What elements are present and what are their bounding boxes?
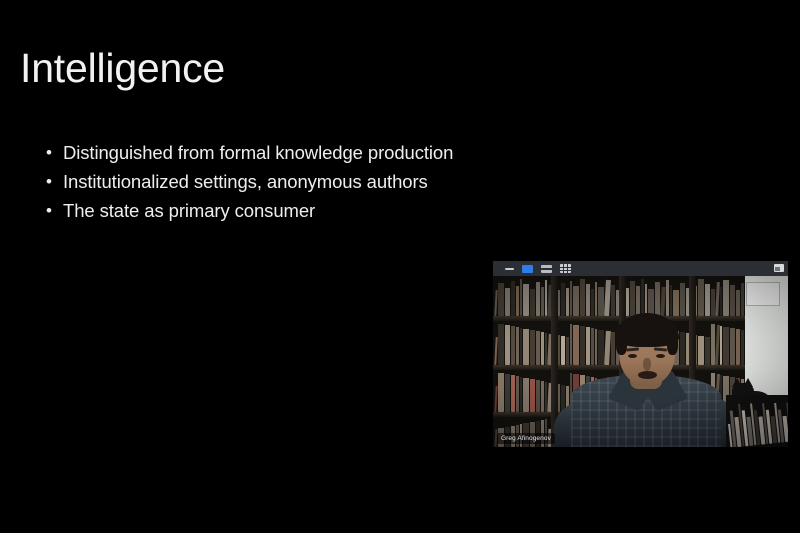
list-item-label: Distinguished from formal knowledge prod… (63, 142, 453, 163)
bullet-marker-icon: • (46, 196, 52, 225)
list-item: • Distinguished from formal knowledge pr… (44, 138, 453, 167)
foreground-shelf (726, 395, 788, 447)
gallery-view-icon[interactable] (560, 264, 571, 273)
bullet-list: • Distinguished from formal knowledge pr… (44, 138, 453, 225)
bullet-marker-icon: • (46, 167, 52, 196)
list-item: • Institutionalized settings, anonymous … (44, 167, 453, 196)
view-mode-buttons (505, 264, 571, 273)
framed-picture (746, 282, 780, 306)
list-item-label: The state as primary consumer (63, 200, 315, 221)
fullscreen-expand-icon[interactable] (774, 264, 784, 272)
active-speaker-view-icon[interactable] (522, 265, 533, 273)
list-item-label: Institutionalized settings, anonymous au… (63, 171, 428, 192)
video-call-panel[interactable]: Greg Afinogenov (493, 261, 788, 447)
video-stage[interactable]: Greg Afinogenov (493, 276, 788, 447)
split-view-icon[interactable] (541, 265, 552, 273)
page-title: Intelligence (20, 48, 225, 89)
minimize-icon[interactable] (505, 268, 514, 270)
video-toolbar (493, 261, 788, 276)
presentation-screen: Intelligence • Distinguished from formal… (0, 0, 800, 533)
participant-name-label: Greg Afinogenov (497, 433, 555, 444)
bullet-marker-icon: • (46, 138, 52, 167)
list-item: • The state as primary consumer (44, 196, 453, 225)
participant-figure (571, 315, 721, 447)
